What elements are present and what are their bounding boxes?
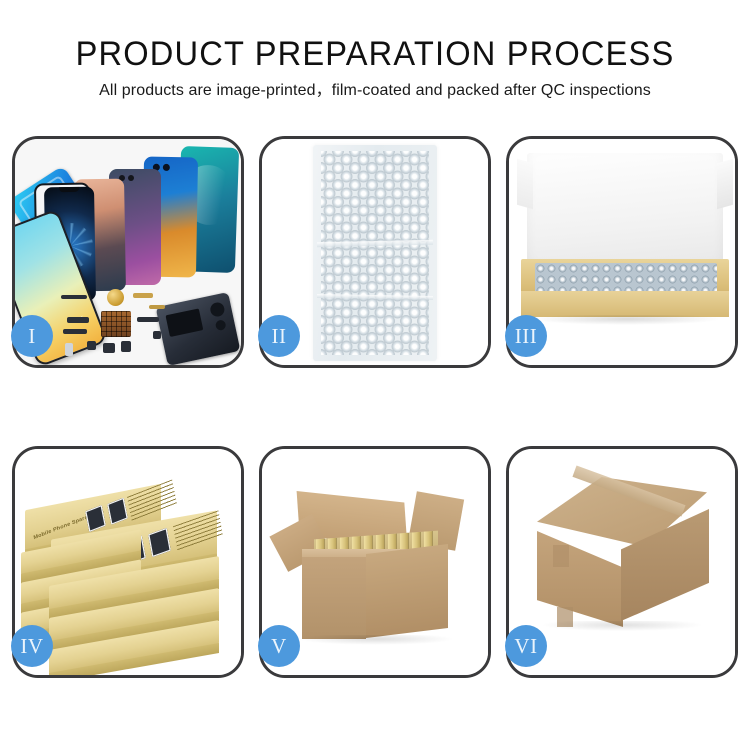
- step-badge-5: V: [258, 625, 300, 667]
- drop-shadow: [531, 315, 721, 325]
- carton-front-face-icon: [537, 531, 623, 627]
- sim-tray-icon: [121, 341, 131, 352]
- page-subtitle: All products are image-printed，film-coat…: [0, 81, 750, 101]
- antenna-flex-icon: [63, 329, 87, 334]
- box-side-edge: [49, 643, 219, 675]
- drop-shadow: [543, 621, 701, 631]
- process-step-3: III: [506, 136, 738, 368]
- process-step-6: VI: [506, 446, 738, 678]
- gold-connector-icon: [133, 293, 153, 298]
- step-badge-6: VI: [505, 625, 547, 667]
- process-step-grid: I II III Mobil: [12, 136, 738, 678]
- retail-box-stack: Mobile Phone Spare Parts Mobile Phone Sp…: [21, 467, 241, 663]
- flex-cable-icon: [61, 295, 87, 299]
- wrapped-contents-icon: [535, 263, 717, 293]
- spare-parts-cluster: [61, 287, 189, 361]
- speaker-coil-icon: [107, 289, 124, 306]
- battery-connector-icon: [65, 343, 73, 356]
- bubble-wrap-sleeve-icon: [313, 145, 437, 361]
- screw-set-icon: [87, 341, 96, 350]
- page-title: PRODUCT PREPARATION PROCESS: [15, 34, 735, 74]
- box-window-2: [107, 498, 128, 525]
- chip-array-icon: [101, 311, 131, 337]
- drop-shadow: [298, 635, 454, 645]
- camera-flex-icon: [67, 317, 89, 323]
- mailer-front-panel-icon: [521, 291, 729, 317]
- step-badge-1: I: [11, 315, 53, 357]
- process-step-5: V: [259, 446, 491, 678]
- carton-front-face-icon: [302, 557, 366, 639]
- box-spec-lines: [127, 479, 177, 521]
- vibrator-motor-icon: [103, 343, 115, 353]
- step-badge-3: III: [505, 315, 547, 357]
- process-step-2: II: [259, 136, 491, 368]
- carton-seam-tab-top-icon: [553, 545, 569, 567]
- carton-side-face-icon: [366, 544, 448, 638]
- phone-notch-icon: [59, 187, 79, 192]
- contact-strip-icon: [149, 305, 165, 309]
- button-part-icon: [153, 331, 161, 339]
- box-spec-lines: [173, 510, 223, 551]
- step-badge-2: II: [258, 315, 300, 357]
- home-button-flex-icon: [137, 317, 159, 322]
- step-badge-4: IV: [11, 625, 53, 667]
- page-header: PRODUCT PREPARATION PROCESS All products…: [0, 0, 750, 101]
- bubble-pattern-icon: [321, 151, 429, 355]
- process-step-4: Mobile Phone Spare Parts Mobile Phone Sp…: [12, 446, 244, 678]
- box-window-2: [148, 528, 171, 557]
- mailer-lid-icon: [527, 153, 723, 273]
- process-step-1: I: [12, 136, 244, 368]
